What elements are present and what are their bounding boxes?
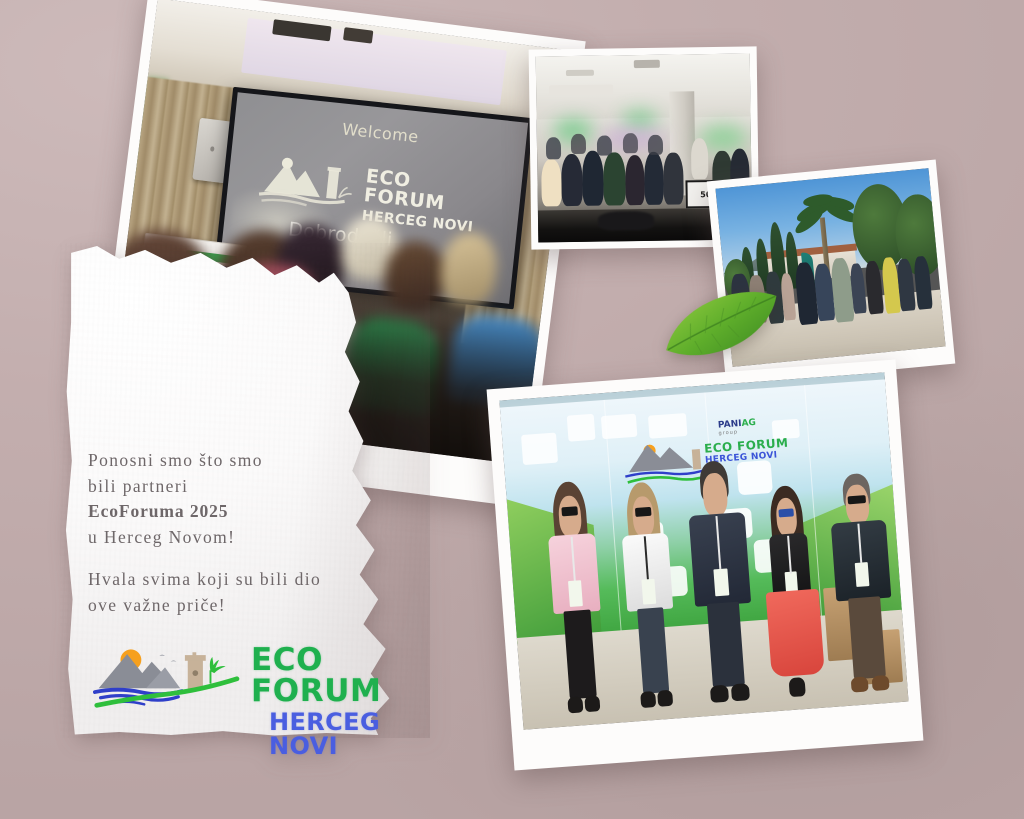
person-1-shoe-right <box>584 695 600 712</box>
person-2-sunglasses <box>635 507 651 517</box>
attendee-back-1 <box>545 137 560 159</box>
person-3-shoe-left <box>710 685 729 703</box>
ceiling-soffit <box>549 85 613 96</box>
photo-group-image: PANIAG group ECO FORUM HERCEG NOVI <box>499 372 908 729</box>
sponsor-logo-1 <box>521 433 558 465</box>
person-5-legs <box>848 596 885 679</box>
guest-9 <box>864 260 884 314</box>
person-3-shoe-right <box>731 683 750 701</box>
person-4-boots <box>789 677 806 697</box>
message-line-3: EcoForuma 2025 <box>88 501 228 521</box>
attendee-7 <box>663 153 683 205</box>
attendee-6 <box>644 152 664 205</box>
attendee-back-2 <box>571 134 586 155</box>
guest-12 <box>913 255 933 309</box>
message-line-1: Ponosni smo što smo <box>88 450 263 470</box>
photo-outdoor-image <box>715 168 945 367</box>
person-2-legs <box>637 607 669 694</box>
attendee-4-green-suit <box>603 152 625 205</box>
person-2-badge <box>642 579 657 605</box>
person-4-skirt <box>766 589 825 677</box>
person-5-shoe-left <box>850 676 868 692</box>
collage-canvas: Welcome <box>0 0 1024 819</box>
person-1-sunglasses <box>561 506 578 516</box>
person-1-legs <box>563 610 597 700</box>
person-2-shoe-right <box>657 690 673 707</box>
person-4-sunglasses <box>778 508 794 518</box>
message-line-6: ove važne priče! <box>88 595 226 615</box>
panel-logo-subtitle: HERCEG NOVI <box>269 710 415 758</box>
attendee-1 <box>541 159 561 206</box>
attendee-back-3 <box>597 135 612 156</box>
panel-eco-forum-logo: ECO FORUM HERCEG NOVI <box>85 635 415 713</box>
person-5-badge <box>855 562 870 587</box>
camera-equipment <box>598 211 654 230</box>
paniag-ag: AG <box>741 418 756 429</box>
person-3-legs <box>707 602 745 688</box>
panel-logo-text: ECO FORUM HERCEG NOVI <box>251 645 415 758</box>
sponsor-logo-2 <box>566 414 595 442</box>
message-gap <box>88 550 356 567</box>
attendee-back-5 <box>648 134 663 155</box>
panel-logo-mark <box>89 639 241 711</box>
person-2-shoe-left <box>640 691 656 708</box>
message-line-5: Hvala svima koji su bili dio <box>88 569 321 589</box>
presenter-standing <box>691 138 709 179</box>
guest-1 <box>730 273 752 327</box>
person-5-sunglasses <box>848 495 866 505</box>
attendee-3 <box>582 151 604 206</box>
attendee-back-4 <box>622 133 637 154</box>
message-line-2: bili partneri <box>88 476 188 496</box>
person-1-shoe-left <box>567 696 583 713</box>
person-3-badge <box>714 569 730 596</box>
photo-group[interactable]: PANIAG group ECO FORUM HERCEG NOVI <box>487 359 924 770</box>
panel-logo-title: ECO FORUM <box>251 645 415 707</box>
person-5-shoe-right <box>871 674 889 690</box>
ceiling-vent-1 <box>566 70 594 76</box>
projector-unit <box>634 60 660 69</box>
person-1-badge <box>568 580 583 606</box>
attendee-5 <box>625 155 645 205</box>
message-line-4: u Herceg Novom! <box>88 527 235 547</box>
sponsor-paniag: PANIAG group <box>718 418 757 437</box>
attendee-2 <box>561 154 583 206</box>
thank-you-message: Ponosni smo što smo bili partneri EcoFor… <box>88 448 356 618</box>
photo-outdoor[interactable] <box>707 159 956 385</box>
hall-ceiling <box>536 54 751 120</box>
torn-paper-panel: Ponosni smo što smo bili partneri EcoFor… <box>60 243 430 738</box>
